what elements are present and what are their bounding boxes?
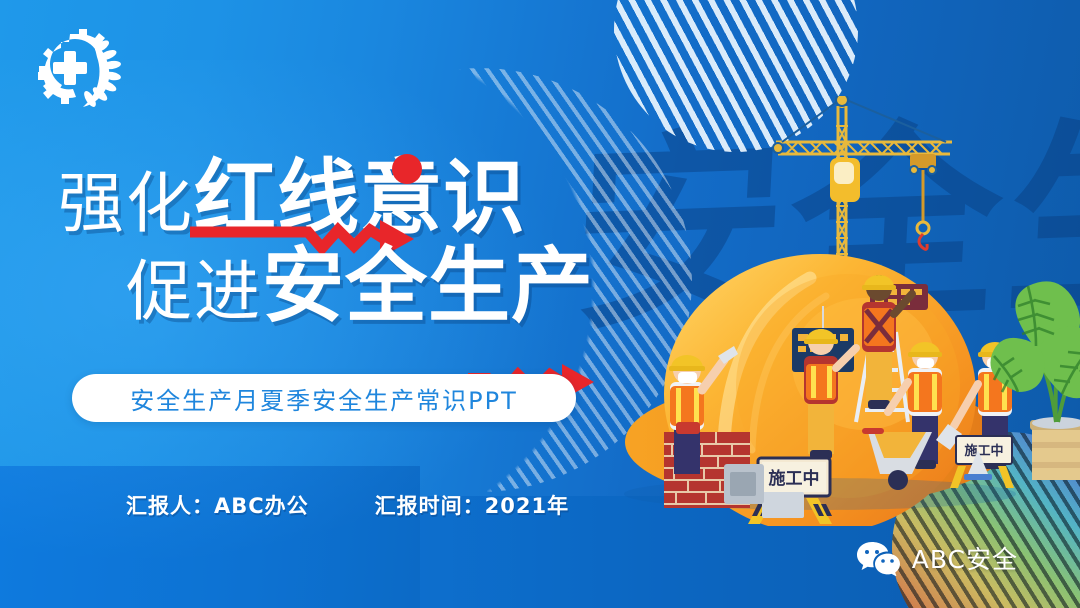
background-bottom-left-band — [0, 466, 420, 608]
subtitle-text: 安全生产月夏季安全生产常识PPT — [130, 381, 518, 416]
title-block: 强化红线意识 促进安全生产 — [48, 158, 668, 328]
subtitle-pill[interactable]: 安全生产月夏季安全生产常识PPT — [72, 374, 576, 422]
safety-production-emblem-logo — [30, 28, 134, 110]
title-line1-light: 强化 — [58, 165, 194, 242]
presentation-slide: 安全生产 — [0, 0, 1080, 608]
presentation-meta: 汇报人：ABC办公 汇报时间：2021年 — [126, 490, 569, 520]
plant-pot — [1030, 417, 1080, 480]
title-line2-heavy: 安全生产 — [262, 239, 594, 334]
presenter-label: 汇报人：ABC办公 — [126, 490, 309, 520]
date-label: 汇报时间：2021年 — [375, 490, 569, 520]
wechat-icon — [856, 540, 900, 576]
title-line-2: 促进安全生产 — [48, 246, 668, 328]
title-line2-light: 促进 — [126, 253, 262, 330]
monstera-plant-illustration — [958, 270, 1080, 485]
svg-text:施工中: 施工中 — [769, 468, 820, 489]
wechat-label: ABC安全 — [912, 540, 1018, 576]
title-line1-heavy: 红线意识 — [194, 151, 526, 246]
title-line-1: 强化红线意识 — [48, 158, 668, 240]
monstera-leaves — [990, 281, 1080, 398]
wechat-badge[interactable]: ABC安全 — [856, 540, 1018, 576]
